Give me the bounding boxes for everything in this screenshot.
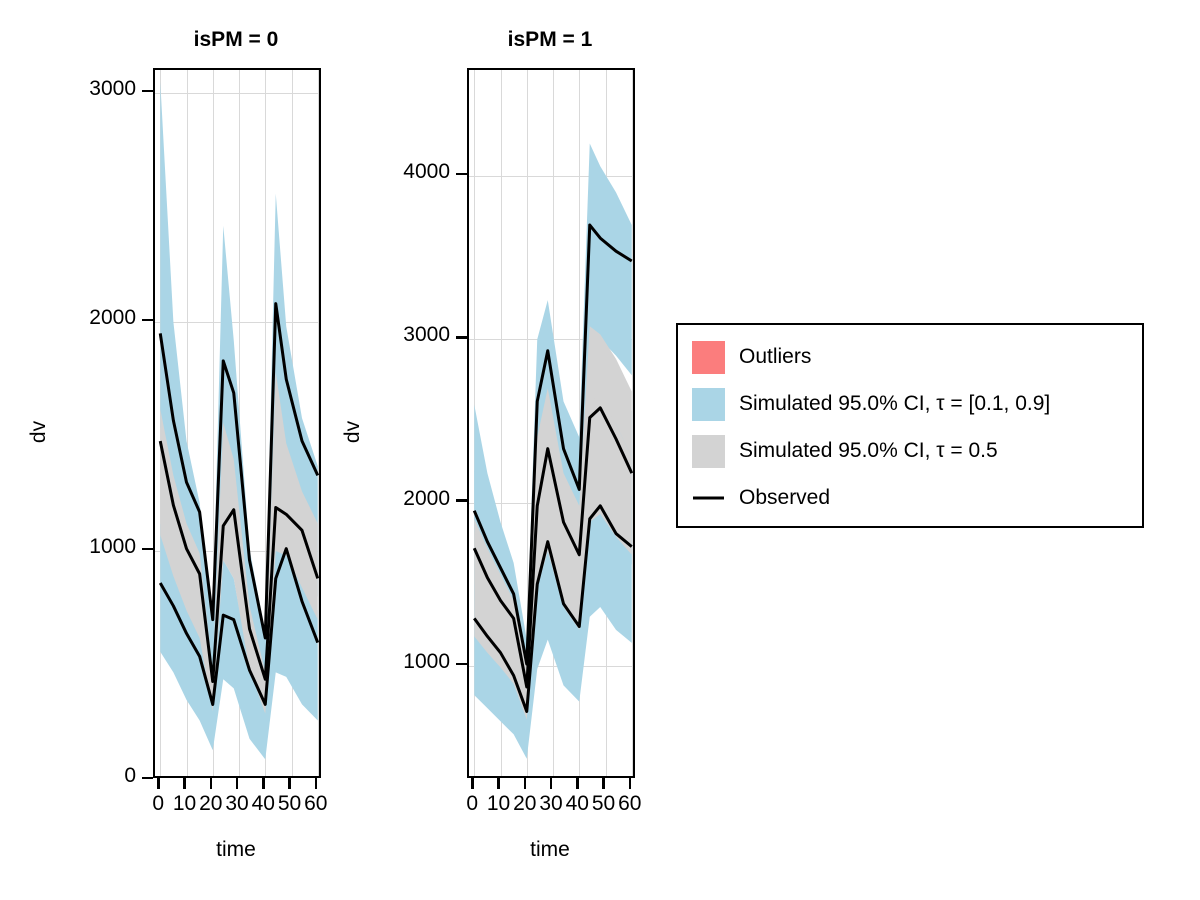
data-layer xyxy=(155,70,321,778)
y-tick-mark xyxy=(456,663,467,666)
y-tick-mark xyxy=(456,336,467,339)
y-tick-mark xyxy=(456,173,467,176)
x-tick-mark xyxy=(576,778,579,789)
y-tick-mark xyxy=(456,499,467,502)
legend-item-label: Observed xyxy=(739,486,830,510)
legend: OutliersSimulated 95.0% CI, τ = [0.1, 0.… xyxy=(676,323,1144,528)
facet-title-ispm-0: isPM = 0 xyxy=(96,28,376,52)
x-tick-mark xyxy=(183,778,186,789)
y-tick-mark xyxy=(142,319,153,322)
y-tick-label: 3000 xyxy=(18,77,136,101)
y-tick-label: 1000 xyxy=(18,535,136,559)
legend-swatch-icon xyxy=(692,435,725,468)
y-tick-mark xyxy=(142,777,153,780)
x-tick-mark xyxy=(524,778,527,789)
x-tick-mark xyxy=(497,778,500,789)
plot-panel-ispm-0 xyxy=(153,68,321,778)
y-tick-label: 0 xyxy=(18,764,136,788)
legend-line-key-icon xyxy=(692,482,725,515)
y-tick-label: 2000 xyxy=(332,487,450,511)
y-tick-mark xyxy=(142,90,153,93)
x-tick-mark xyxy=(315,778,318,789)
x-tick-mark xyxy=(262,778,265,789)
legend-item[interactable]: Simulated 95.0% CI, τ = [0.1, 0.9] xyxy=(692,384,1050,424)
x-tick-mark xyxy=(210,778,213,789)
y-tick-label: 2000 xyxy=(18,306,136,330)
legend-item-label: Outliers xyxy=(739,345,811,369)
legend-item[interactable]: Observed xyxy=(692,478,830,518)
chart-figure: isPM = 0 dv time 0100020003000 010203040… xyxy=(0,0,1200,900)
data-layer xyxy=(469,70,635,778)
x-tick-mark xyxy=(550,778,553,789)
legend-item-label: Simulated 95.0% CI, τ = 0.5 xyxy=(739,439,998,463)
y-axis-title-left: dv xyxy=(27,402,51,462)
plot-panel-ispm-1 xyxy=(467,68,635,778)
y-tick-label: 1000 xyxy=(332,650,450,674)
x-tick-mark xyxy=(602,778,605,789)
x-tick-mark xyxy=(157,778,160,789)
x-axis-title-left: time xyxy=(96,838,376,862)
x-tick-mark xyxy=(288,778,291,789)
facet-title-ispm-1: isPM = 1 xyxy=(410,28,690,52)
legend-swatch-icon xyxy=(692,388,725,421)
x-axis-title-right: time xyxy=(410,838,690,862)
y-tick-label: 3000 xyxy=(332,323,450,347)
x-tick-label: 60 xyxy=(600,792,660,816)
x-tick-label: 60 xyxy=(286,792,346,816)
y-tick-mark xyxy=(142,548,153,551)
legend-item-label: Simulated 95.0% CI, τ = [0.1, 0.9] xyxy=(739,392,1050,416)
x-tick-mark xyxy=(236,778,239,789)
x-tick-mark xyxy=(471,778,474,789)
legend-item[interactable]: Outliers xyxy=(692,337,811,377)
x-tick-mark xyxy=(629,778,632,789)
y-axis-title-right: dv xyxy=(341,402,365,462)
legend-swatch-icon xyxy=(692,341,725,374)
legend-item[interactable]: Simulated 95.0% CI, τ = 0.5 xyxy=(692,431,998,471)
y-tick-label: 4000 xyxy=(332,160,450,184)
